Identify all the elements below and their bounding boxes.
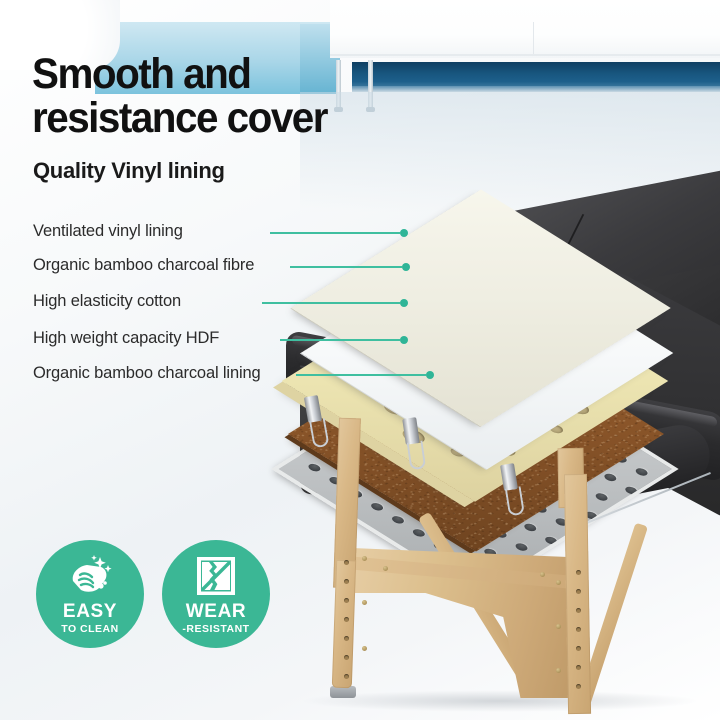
feature-leader-line-3 bbox=[280, 339, 400, 341]
feature-leader-line-2 bbox=[262, 302, 400, 304]
feature-leader-dot-0 bbox=[400, 229, 408, 237]
feature-leader-dot-3 bbox=[400, 336, 408, 344]
badge-title: EASY bbox=[63, 602, 117, 622]
feature-leader-line-1 bbox=[290, 266, 402, 268]
product-marketing-banner: Smooth and resistance cover Quality Viny… bbox=[0, 0, 720, 720]
headline-line-1: Smooth and bbox=[32, 52, 427, 96]
headline-line-2: resistance cover bbox=[32, 96, 427, 140]
feature-leader-line-4 bbox=[296, 374, 426, 376]
feature-leader-dot-2 bbox=[400, 299, 408, 307]
badge-easy: EASYTO CLEAN bbox=[36, 540, 144, 648]
feature-label-3: High weight capacity HDF bbox=[33, 329, 219, 348]
feature-label-1: Organic bamboo charcoal fibre bbox=[33, 256, 254, 275]
page-title: Smooth and resistance cover bbox=[32, 52, 427, 140]
feature-leader-dot-1 bbox=[402, 263, 410, 271]
badge-wear: WEAR-RESISTANT bbox=[162, 540, 270, 648]
badge-subtitle: TO CLEAN bbox=[61, 623, 118, 635]
feature-label-4: Organic bamboo charcoal lining bbox=[33, 364, 261, 383]
badge-subtitle: -RESISTANT bbox=[182, 623, 249, 635]
feature-label-0: Ventilated vinyl lining bbox=[33, 222, 183, 241]
no-tear-icon bbox=[193, 553, 239, 599]
page-subtitle: Quality Vinyl lining bbox=[33, 158, 225, 184]
certification-badge-group: EASYTO CLEANWEAR-RESISTANT bbox=[36, 540, 270, 648]
badge-title: WEAR bbox=[186, 602, 246, 622]
feature-label-2: High elasticity cotton bbox=[33, 292, 181, 311]
wipe-clean-icon bbox=[67, 553, 113, 599]
feature-leader-dot-4 bbox=[426, 371, 434, 379]
feature-leader-line-0 bbox=[270, 232, 400, 234]
